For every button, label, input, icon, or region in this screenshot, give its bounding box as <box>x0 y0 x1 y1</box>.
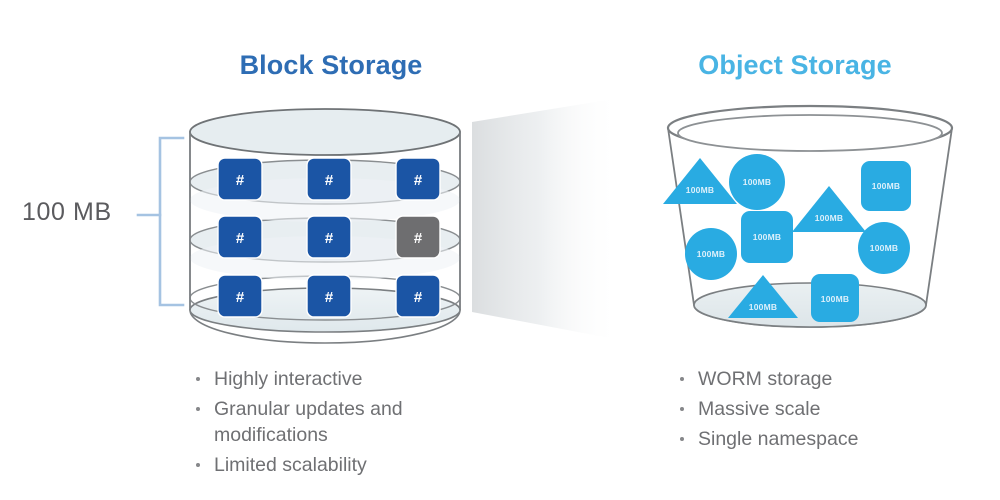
bullet-dot-icon <box>680 377 684 381</box>
list-item-label: Limited scalability <box>214 452 492 478</box>
bullet-dot-icon <box>680 407 684 411</box>
list-item: Granular updates and modifications <box>192 396 492 448</box>
capacity-label: 100 MB <box>22 198 112 227</box>
list-item-label: Granular updates and modifications <box>214 396 492 448</box>
list-item: Highly interactive <box>192 366 492 392</box>
list-item-label: Highly interactive <box>214 366 492 392</box>
bullet-dot-icon <box>196 463 200 467</box>
list-item-label: Massive scale <box>698 396 976 422</box>
diagram-canvas: # # # # # # <box>0 0 1000 500</box>
block-storage-bullet-list: Highly interactive Granular updates and … <box>192 366 492 482</box>
text-layer: Block Storage Object Storage 100 MB High… <box>0 0 1000 500</box>
bullet-dot-icon <box>680 437 684 441</box>
list-item: WORM storage <box>676 366 976 392</box>
list-item-label: WORM storage <box>698 366 976 392</box>
bullet-dot-icon <box>196 377 200 381</box>
list-item: Limited scalability <box>192 452 492 478</box>
list-item-label: Single namespace <box>698 426 976 452</box>
block-storage-title: Block Storage <box>186 50 476 81</box>
bullet-dot-icon <box>196 407 200 411</box>
object-storage-title: Object Storage <box>650 50 940 81</box>
list-item: Massive scale <box>676 396 976 422</box>
list-item: Single namespace <box>676 426 976 452</box>
object-storage-bullet-list: WORM storage Massive scale Single namesp… <box>676 366 976 456</box>
